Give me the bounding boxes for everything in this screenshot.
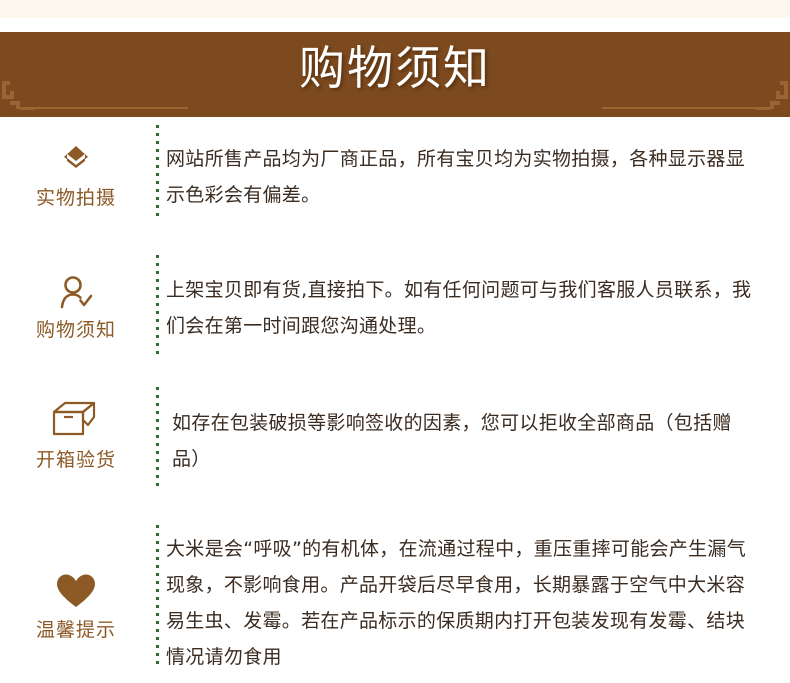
notice-text-column: 网站所售产品均为厂商正品，所有宝贝均为实物拍摄，各种显示器显示色彩会有偏差。	[166, 117, 790, 213]
double-chevron-leaf-icon	[0, 133, 152, 177]
notice-list: 实物拍摄 网站所售产品均为厂商正品，所有宝贝均为实物拍摄，各种显示器显示色彩会有…	[0, 117, 790, 683]
banner-rule-left	[28, 107, 188, 109]
notice-label-column: 开箱验货	[0, 375, 152, 472]
page-title: 购物须知	[0, 32, 790, 104]
open-box-icon	[0, 395, 152, 439]
notice-label: 温馨提示	[0, 615, 152, 642]
top-accent-strip	[0, 0, 790, 18]
notice-item: 实物拍摄 网站所售产品均为厂商正品，所有宝贝均为实物拍摄，各种显示器显示色彩会有…	[0, 117, 790, 245]
shopping-notice-page: 购物须知 实物拍摄	[0, 0, 790, 683]
notice-item: 开箱验货 如存在包装破损等影响签收的因素，您可以拒收全部商品（包括赠品）	[0, 375, 790, 525]
greek-key-ornament-right-icon	[756, 81, 790, 115]
notice-label-column: 购物须知	[0, 245, 152, 342]
notice-item: 购物须知 上架宝贝即有货,直接拍下。如有任何问题可与我们客服人员联系，我们会在第…	[0, 245, 790, 375]
notice-text: 网站所售产品均为厂商正品，所有宝贝均为实物拍摄，各种显示器显示色彩会有偏差。	[166, 141, 756, 213]
person-check-icon	[0, 265, 152, 309]
notice-label: 购物须知	[0, 315, 152, 342]
heart-icon	[0, 565, 152, 609]
notice-text: 大米是会“呼吸”的有机体，在流通过程中，重压重摔可能会产生漏气现象，不影响食用。…	[166, 531, 756, 675]
notice-label: 实物拍摄	[0, 183, 152, 210]
banner-rule-right	[602, 107, 762, 109]
notice-label-column: 实物拍摄	[0, 117, 152, 210]
notice-item: 温馨提示 大米是会“呼吸”的有机体，在流通过程中，重压重摔可能会产生漏气现象，不…	[0, 525, 790, 683]
notice-text: 上架宝贝即有货,直接拍下。如有任何问题可与我们客服人员联系，我们会在第一时间跟您…	[166, 272, 756, 344]
notice-text: 如存在包装破损等影响签收的因素，您可以拒收全部商品（包括赠品）	[172, 405, 756, 477]
notice-text-column: 上架宝贝即有货,直接拍下。如有任何问题可与我们客服人员联系，我们会在第一时间跟您…	[166, 245, 790, 344]
page-banner: 购物须知	[0, 32, 790, 117]
notice-text-column: 大米是会“呼吸”的有机体，在流通过程中，重压重摔可能会产生漏气现象，不影响食用。…	[166, 525, 790, 675]
notice-label-column: 温馨提示	[0, 525, 152, 642]
notice-text-column: 如存在包装破损等影响签收的因素，您可以拒收全部商品（包括赠品）	[166, 375, 790, 477]
greek-key-ornament-left-icon	[0, 81, 34, 115]
notice-label: 开箱验货	[0, 445, 152, 472]
